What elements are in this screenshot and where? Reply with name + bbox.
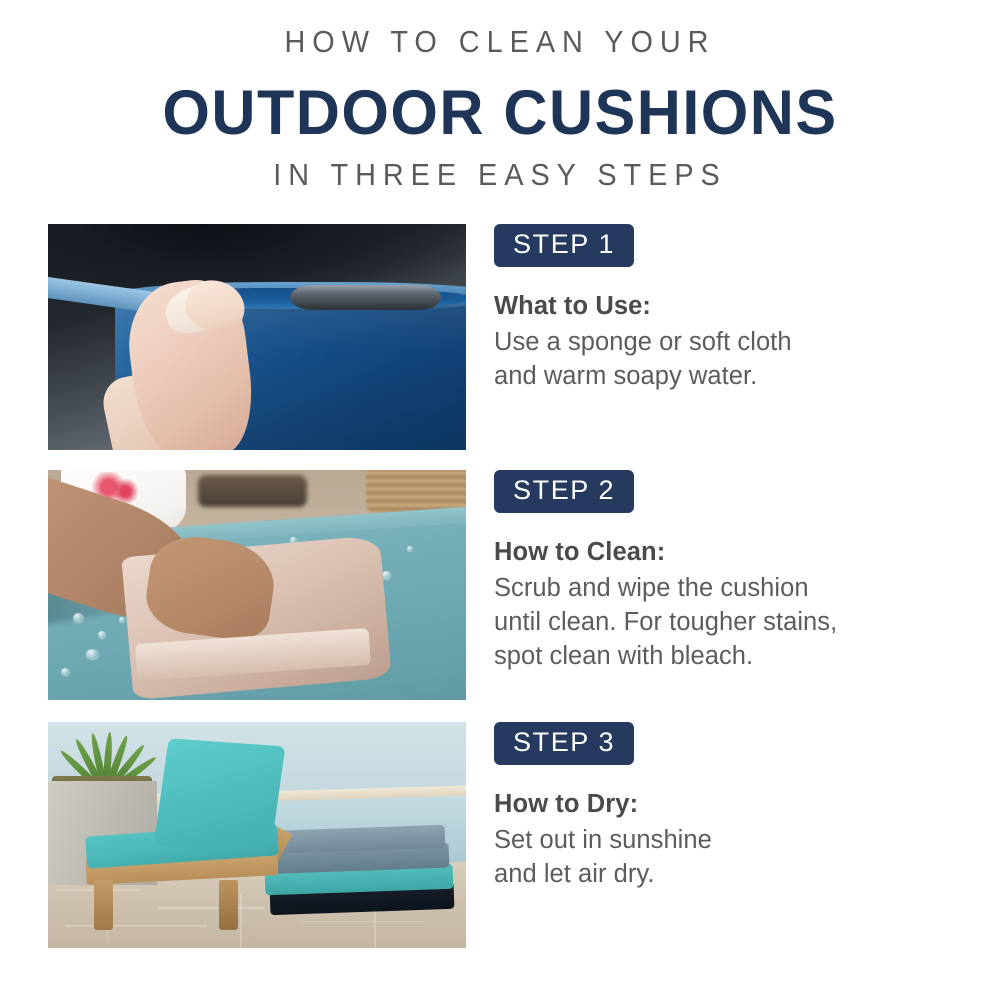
header: HOW TO CLEAN YOUR OUTDOOR CUSHIONS IN TH…: [0, 0, 1000, 190]
step-row: STEP 2 How to Clean: Scrub and wipe the …: [48, 470, 968, 700]
header-kicker: HOW TO CLEAN YOUR: [35, 26, 965, 57]
header-subkicker: IN THREE EASY STEPS: [35, 159, 965, 190]
step-2-body: Scrub and wipe the cushion until clean. …: [494, 572, 968, 674]
step-2-badge: STEP 2: [494, 470, 634, 513]
step-2-image: [48, 470, 466, 700]
step-1-image: [48, 224, 466, 450]
step-3-copy: STEP 3 How to Dry: Set out in sunshine a…: [494, 722, 968, 948]
bucket-illustration: [48, 224, 466, 450]
step-row: STEP 3 How to Dry: Set out in sunshine a…: [48, 722, 968, 948]
page-title: OUTDOOR CUSHIONS: [15, 78, 985, 149]
wiping-cushion-illustration: [48, 470, 466, 700]
step-3-image: [48, 722, 466, 948]
step-1-badge: STEP 1: [494, 224, 634, 267]
step-3-body: Set out in sunshine and let air dry.: [494, 824, 968, 892]
step-3-badge: STEP 3: [494, 722, 634, 765]
step-2-lead: How to Clean:: [494, 537, 968, 569]
infographic-page: HOW TO CLEAN YOUR OUTDOOR CUSHIONS IN TH…: [0, 0, 1000, 1000]
chaise-lounge-illustration: [48, 722, 466, 948]
step-1-copy: STEP 1 What to Use: Use a sponge or soft…: [494, 224, 968, 450]
step-1-lead: What to Use:: [494, 291, 968, 323]
step-row: STEP 1 What to Use: Use a sponge or soft…: [48, 224, 968, 450]
step-1-body: Use a sponge or soft cloth and warm soap…: [494, 326, 968, 394]
step-3-lead: How to Dry:: [494, 789, 968, 821]
step-2-copy: STEP 2 How to Clean: Scrub and wipe the …: [494, 470, 968, 700]
